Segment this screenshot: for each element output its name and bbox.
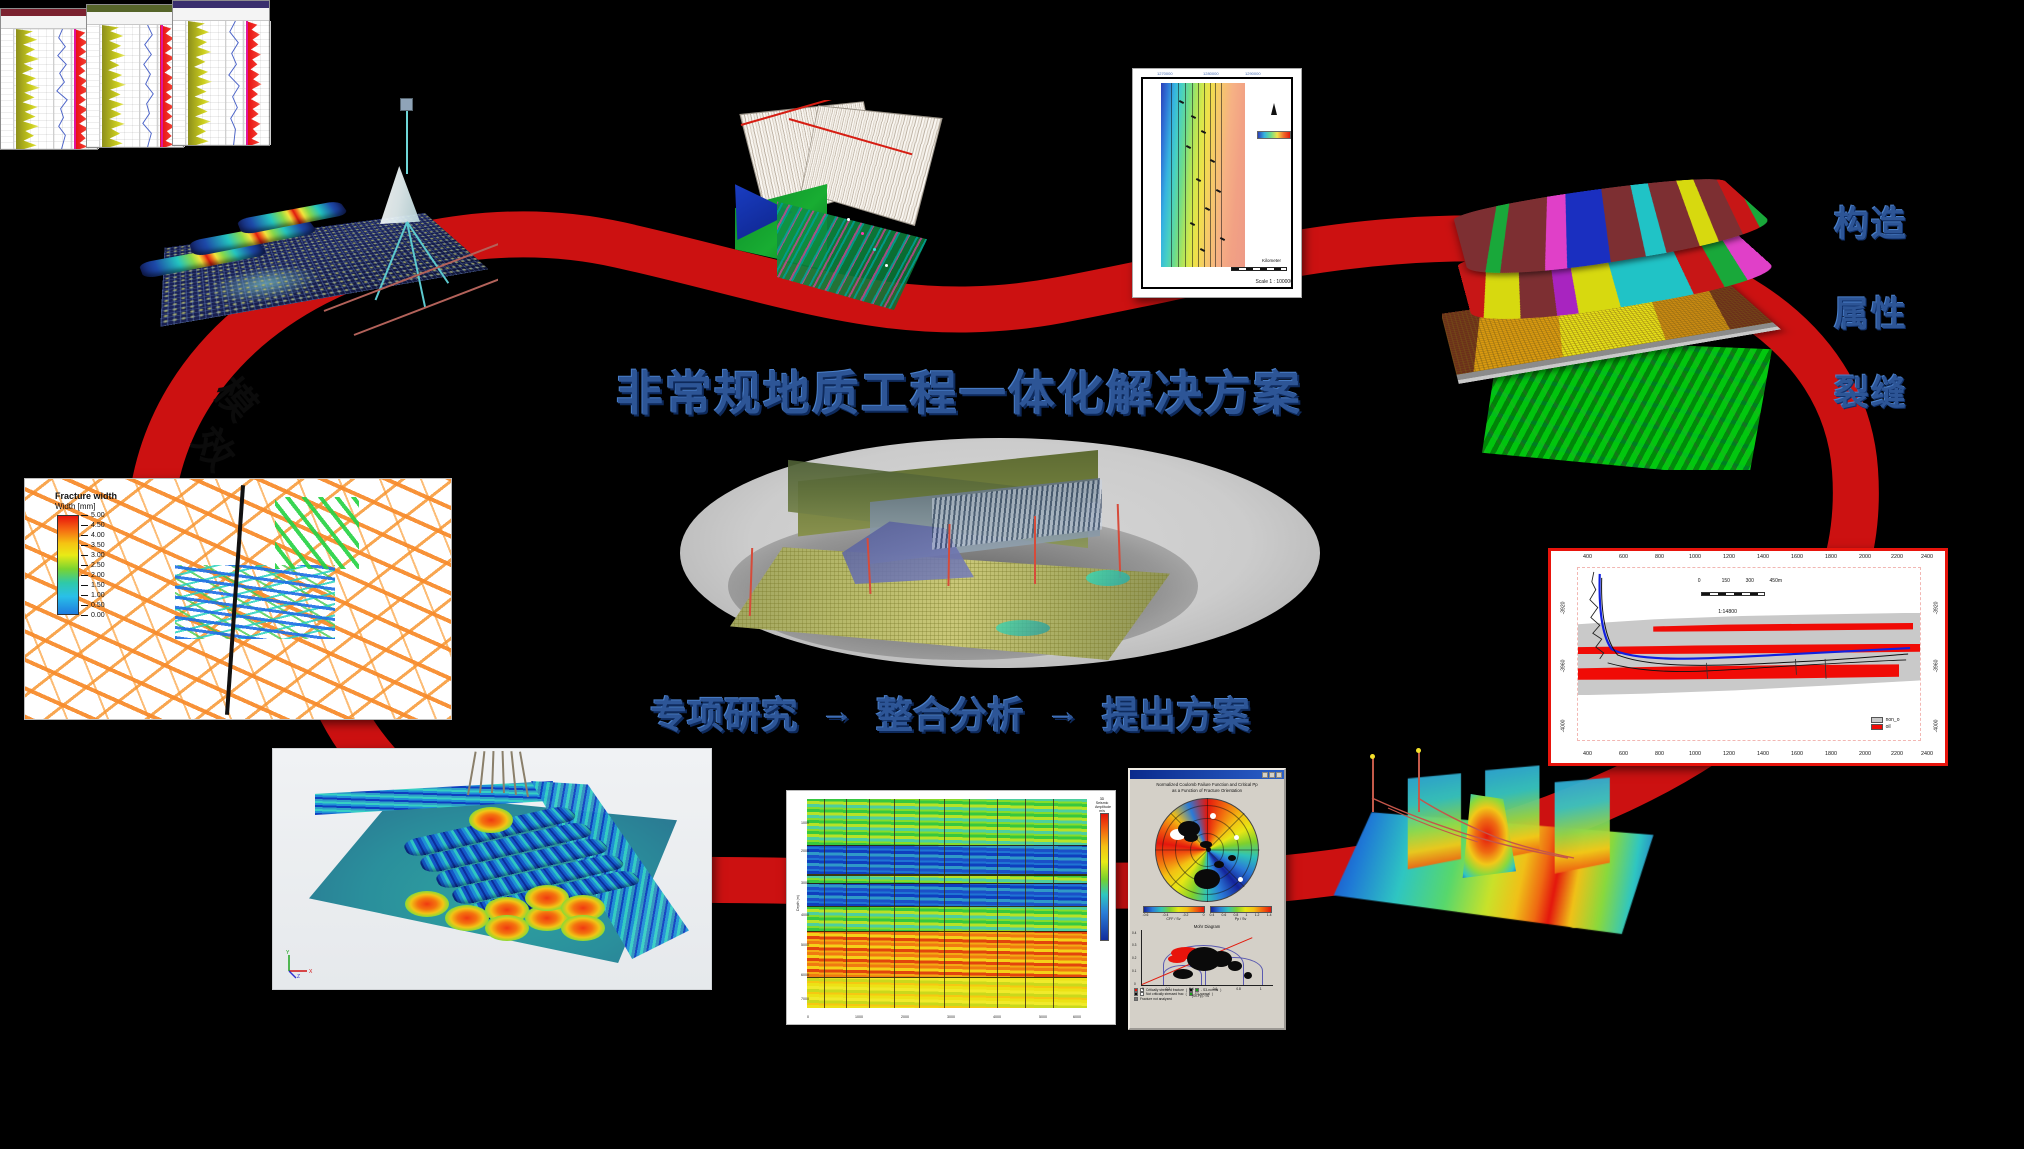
xsec-x-tick-top: 2200 <box>1891 554 1903 560</box>
xsec-x-tick-bot: 1000 <box>1689 751 1701 757</box>
map-axis-label: 1280000 <box>1203 71 1219 76</box>
well-trajectory <box>406 104 408 174</box>
panel-integrated-3d-model[interactable] <box>680 420 1320 690</box>
seismic-y-tick: 4000 <box>801 913 809 917</box>
colorbar-captions: CFF / Sv Pp / Sv <box>1130 917 1284 921</box>
seismic-x-tick: 3000 <box>947 1015 955 1019</box>
seismic-y-axis-label: Depth (m) <box>796 895 800 911</box>
wellhead-marker <box>1416 748 1421 753</box>
maximize-icon[interactable] <box>1269 772 1275 778</box>
log-subheader <box>1 16 97 29</box>
workflow-steps: 专项研究 → 整合分析 → 提出方案 <box>650 685 1250 739</box>
data-point <box>861 232 864 235</box>
xsec-x-tick-top: 2000 <box>1859 554 1871 560</box>
panel-layered-geological-model[interactable] <box>1442 150 1822 470</box>
pp-colorbar-label: Pp / Sv <box>1210 917 1272 921</box>
map-scale-text: Scale 1 : 100000 <box>1255 279 1293 285</box>
contour-fill <box>1161 83 1245 267</box>
xsec-x-tick-bot: 2000 <box>1859 751 1871 757</box>
seismic-x-tick: 0 <box>807 1015 809 1019</box>
seismic-x-tick: 4000 <box>993 1015 1001 1019</box>
legend-tick: 2.00 <box>91 572 105 579</box>
well-laterals <box>1358 796 1578 866</box>
xsec-x-tick-bot: 800 <box>1655 751 1664 757</box>
infographic-canvas: 模 效 <box>0 0 2024 1149</box>
legend-tick: 1.00 <box>91 592 105 599</box>
page-title: 非常规地质工程一体化解决方案 <box>616 355 1302 424</box>
seismic-x-tick: 5000 <box>1039 1015 1047 1019</box>
xsec-x-tick-bot: 1600 <box>1791 751 1803 757</box>
panel-fracture-stimulation-3d[interactable] <box>118 96 498 336</box>
pressure-hotspot <box>561 915 605 941</box>
arrow-right-icon: → <box>820 693 854 732</box>
xsec-x-tick-top: 800 <box>1655 554 1664 560</box>
scale-tick: 450m <box>1770 578 1783 584</box>
workflow-step-2: 整合分析 <box>876 685 1024 739</box>
data-point <box>873 248 876 251</box>
xsec-x-tick-bot: 2400 <box>1921 751 1933 757</box>
map-axis-label: 1290000 <box>1245 71 1261 76</box>
seismic-x-tick: 2000 <box>901 1015 909 1019</box>
log-header-bar <box>87 5 183 12</box>
xsec-x-tick-top: 1800 <box>1825 554 1837 560</box>
well-line <box>502 751 505 793</box>
legend-tick: 0.00 <box>91 612 105 619</box>
panel-seismic-section[interactable]: 3D Seismic Amplitude m/s Depth (m) 1000 … <box>786 790 1116 1025</box>
legend-tick: 4.00 <box>91 532 105 539</box>
xsec-x-tick-top: 1200 <box>1723 554 1735 560</box>
stimulation-fan <box>380 166 420 224</box>
well-vertical <box>1034 516 1036 584</box>
svg-text:X: X <box>309 969 313 975</box>
xsec-x-tick-bot: 400 <box>1583 751 1592 757</box>
pressure-hotspot <box>445 905 489 931</box>
data-point <box>847 218 850 221</box>
reservoir-highlight <box>1086 570 1130 586</box>
legend-tick: 3.50 <box>91 542 105 549</box>
label-fracture: 裂缝 <box>1834 365 1908 416</box>
north-arrow-icon <box>1271 103 1277 115</box>
wellhead-marker <box>1370 754 1375 759</box>
xsec-x-tick-bot: 1200 <box>1723 751 1735 757</box>
xsec-y-tick-left: -4000 <box>1560 720 1566 733</box>
map-colorbar <box>1257 131 1291 139</box>
map-km-label: Kilometer <box>1262 258 1281 263</box>
log-header-bar <box>173 1 269 8</box>
xsec-scale-ratio: 1:14800 <box>1718 609 1737 615</box>
legend-tick: 4.50 <box>91 522 105 529</box>
xsec-y-tick-left: -3920 <box>1560 602 1566 615</box>
log-subheader <box>173 8 269 21</box>
cff-colorbar-label: CFF / Sv <box>1143 917 1205 921</box>
xsec-x-tick-bot: 1800 <box>1825 751 1837 757</box>
mohr-x-label: (Sn-Pp) / Sv <box>1192 994 1209 998</box>
seismic-y-tick: 7000 <box>801 997 809 1001</box>
data-point <box>885 264 888 267</box>
pressure-hotspot <box>469 807 513 833</box>
xsec-y-tick-right: -4000 <box>1934 720 1940 733</box>
seismic-y-tick: 6000 <box>801 973 809 977</box>
minimize-icon[interactable] <box>1262 772 1268 778</box>
legend-tick: 2.50 <box>91 562 105 569</box>
legend-tick: 5.00 <box>91 512 105 519</box>
label-property: 属性 <box>1834 286 1908 337</box>
dfn-stimulated-zone <box>175 565 335 639</box>
seismic-y-tick: 5000 <box>801 943 809 947</box>
log-tracks <box>1 29 97 149</box>
scale-tick: 300 <box>1746 578 1754 584</box>
xsec-x-tick-top: 400 <box>1583 554 1592 560</box>
seismic-amplitude-image <box>807 799 1087 1008</box>
stereonet-colorbars <box>1130 906 1284 913</box>
stereonet-title: Normalized Coulomb Failure Function and … <box>1130 779 1284 796</box>
seismic-colorbar <box>1100 813 1109 941</box>
wellhead-icon <box>400 98 413 111</box>
window-titlebar[interactable] <box>1130 770 1284 779</box>
seismic-x-tick: 1000 <box>855 1015 863 1019</box>
map-scalebar <box>1231 267 1287 271</box>
xsec-x-tick-bot: 600 <box>1619 751 1628 757</box>
label-structure: 构造 <box>1834 196 1908 247</box>
xsec-legend: non_o oil <box>1871 716 1900 730</box>
stereonet-plot <box>1155 798 1259 902</box>
panel-fracture-pressure-simulation[interactable]: X Y Z <box>272 748 712 990</box>
dfn-green-cluster <box>275 497 359 569</box>
panel-crossed-seismic-sections[interactable] <box>735 100 945 315</box>
pp-colorbar <box>1210 906 1272 913</box>
scale-tick: 0 <box>1698 578 1701 584</box>
axis-triad-icon: X Y Z <box>285 949 315 979</box>
seismic-x-tick: 6000 <box>1073 1015 1081 1019</box>
mohr-diagram-plot: 0 0.2 0.4 0.6 0.8 1 0 0.1 0.2 0.3 0.4 (S… <box>1141 930 1273 986</box>
xsec-y-tick-right: -3920 <box>1934 602 1940 615</box>
xsec-scalebar <box>1701 592 1765 596</box>
legend-tick: 3.00 <box>91 552 105 559</box>
xsec-y-tick-left: -3960 <box>1560 660 1566 673</box>
mohr-diagram-title: Mohr Diagram <box>1130 924 1284 929</box>
map-axis-label: 1270000 <box>1157 71 1173 76</box>
xsec-y-tick-right: -3960 <box>1934 660 1940 673</box>
arrow-right-icon: → <box>1046 693 1080 732</box>
svg-text:Z: Z <box>297 974 300 979</box>
xsec-x-tick-bot: 1400 <box>1757 751 1769 757</box>
xsec-x-tick-top: 600 <box>1619 554 1628 560</box>
xsec-x-tick-top: 2400 <box>1921 554 1933 560</box>
seismic-y-tick: 3000 <box>801 881 809 885</box>
panel-structure-contour-map[interactable]: 1270000 1280000 1290000 Kilometer Scale … <box>1132 68 1302 298</box>
xsec-x-tick-top: 1600 <box>1791 554 1803 560</box>
log-subheader <box>87 12 183 25</box>
workflow-step-1: 专项研究 <box>650 685 798 739</box>
seismic-colorbar-title: 3D Seismic Amplitude m/s <box>1095 797 1109 813</box>
seismic-y-tick: 1000 <box>801 821 809 825</box>
panel-geomechanics-stability-window[interactable]: Normalized Coulomb Failure Function and … <box>1128 768 1286 1030</box>
pressure-hotspot <box>405 891 449 917</box>
legend-subtitle: Width [mm] <box>55 502 117 511</box>
scale-tick: 150 <box>1722 578 1730 584</box>
close-icon[interactable] <box>1276 772 1282 778</box>
cff-colorbar <box>1143 906 1205 913</box>
well-log-sheet[interactable] <box>0 8 98 150</box>
panel-oil-cross-section-chart[interactable]: 0 150 300 450m 1:14800 non_o oil 400 600… <box>1548 548 1948 766</box>
legend-tick: 0.50 <box>91 602 105 609</box>
panel-fracture-width-dfn[interactable]: Fracture width Width [mm] 5.00 4.50 4.00… <box>24 478 452 720</box>
xsec-x-tick-bot: 2200 <box>1891 751 1903 757</box>
xsec-x-tick-top: 1400 <box>1757 554 1769 560</box>
legend-title: Fracture width <box>55 491 117 501</box>
panel-3d-pressure-fracture-model[interactable] <box>1318 740 1688 970</box>
legend-tick: 1.50 <box>91 582 105 589</box>
seismic-y-tick: 2000 <box>801 849 809 853</box>
pressure-hotspot <box>485 915 529 941</box>
log-header-bar <box>1 9 97 16</box>
xsec-plot-area: 0 150 300 450m 1:14800 non_o oil <box>1577 567 1921 741</box>
fracture-width-legend: Fracture width Width [mm] <box>55 491 117 511</box>
workflow-step-3: 提出方案 <box>1102 685 1250 739</box>
fracture-width-colorbar <box>57 515 79 615</box>
xsec-x-tick-top: 1000 <box>1689 554 1701 560</box>
reservoir-highlight <box>996 620 1050 636</box>
